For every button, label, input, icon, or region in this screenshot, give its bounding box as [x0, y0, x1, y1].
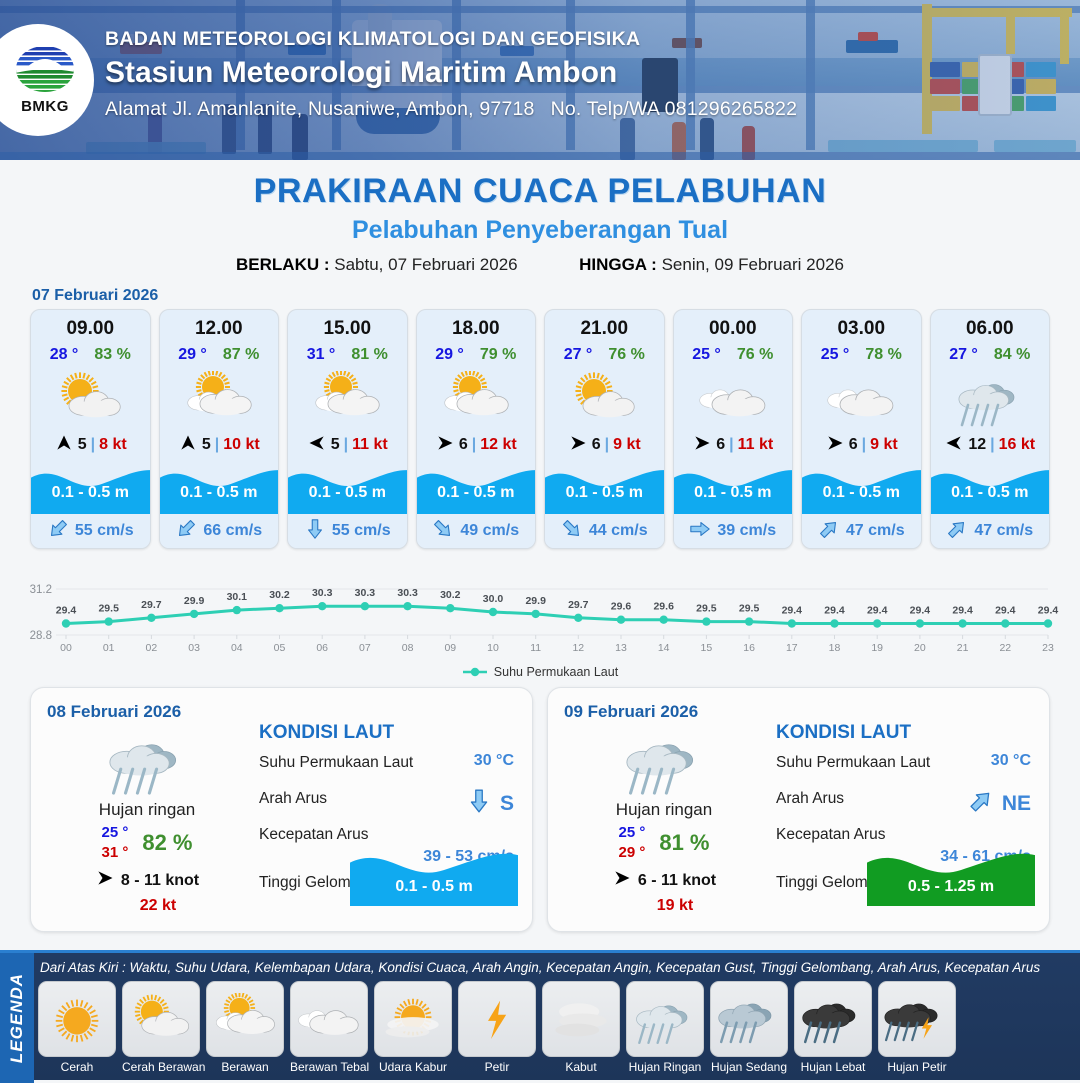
- current-direction-icon: [175, 518, 197, 545]
- svg-text:30.3: 30.3: [312, 587, 333, 599]
- legend-item: Hujan Ringan: [626, 981, 704, 1074]
- legend-side-text: LEGENDA: [7, 973, 27, 1063]
- svg-text:21: 21: [957, 642, 969, 654]
- current-speed: 49 cm/s: [460, 522, 519, 540]
- card-current: 55 cm/s: [31, 514, 150, 548]
- agency-name: BADAN METEOROLOGI KLIMATOLOGI DAN GEOFIS…: [105, 28, 797, 51]
- page-header: BMKG BADAN METEOROLOGI KLIMATOLOGI DAN G…: [0, 0, 1080, 160]
- card-wave: 0.1 - 0.5 m: [31, 462, 150, 514]
- current-direction-icon: [466, 788, 492, 819]
- svg-text:13: 13: [615, 642, 627, 654]
- card-current: 66 cm/s: [160, 514, 279, 548]
- card-wave: 0.1 - 0.5 m: [545, 462, 664, 514]
- legend-item: Berawan: [206, 981, 284, 1074]
- weather-berawan-sun-icon: [160, 368, 279, 430]
- card-wave: 0.1 - 0.5 m: [674, 462, 793, 514]
- svg-text:20: 20: [914, 642, 926, 654]
- daily-left-column: Hujan ringan 25 ° 31 ° 82 % 8 - 11 knot …: [47, 726, 247, 915]
- card-temperature: 28 °: [50, 346, 79, 364]
- svg-text:16: 16: [743, 642, 755, 654]
- wave-height: 0.1 - 0.5 m: [417, 484, 536, 502]
- card-wave: 0.1 - 0.5 m: [931, 462, 1050, 514]
- daily-forecast-row: 08 Februari 2026 Hujan ringan 25 ° 31 ° …: [0, 679, 1080, 932]
- weather-kabut-icon: [542, 981, 620, 1057]
- svg-text:09: 09: [444, 642, 456, 654]
- svg-text:08: 08: [402, 642, 414, 654]
- weather-hujan-lebat-icon: [794, 981, 872, 1057]
- svg-text:04: 04: [231, 642, 243, 654]
- validity-line: BERLAKU : Sabtu, 07 Februari 2026 HINGGA…: [0, 255, 1080, 275]
- weather-berawan-sun-icon: [206, 981, 284, 1057]
- weather-cerah-berawan-icon: [31, 368, 150, 430]
- card-temp-humidity: 27 ° 76 %: [545, 346, 664, 364]
- svg-text:30.1: 30.1: [227, 591, 248, 603]
- current-speed: 47 cm/s: [846, 522, 905, 540]
- wind-gust: 12 kt: [480, 436, 516, 454]
- wind-gust: 9 kt: [870, 436, 898, 454]
- legend-item: Hujan Petir: [878, 981, 956, 1074]
- wave-value: 0.5 - 1.25 m: [867, 878, 1035, 896]
- current-direction-row: Arah Arus NE: [776, 790, 1035, 816]
- daily-wind-range: 8 - 11 knot: [121, 872, 199, 890]
- svg-text:29.9: 29.9: [525, 595, 546, 607]
- hourly-date-label: 07 Februari 2026: [32, 287, 1080, 305]
- legend-item-label: Berawan Tebal: [290, 1060, 368, 1074]
- current-speed: 55 cm/s: [332, 522, 391, 540]
- svg-text:01: 01: [103, 642, 115, 654]
- daily-condition: Hujan ringan: [47, 800, 247, 820]
- daily-temp-max: 31 °: [101, 844, 128, 861]
- daily-date: 09 Februari 2026: [564, 702, 1033, 722]
- weather-hujan-ringan-icon: [47, 726, 247, 798]
- svg-text:00: 00: [60, 642, 72, 654]
- current-speed: 55 cm/s: [75, 522, 134, 540]
- svg-text:29.5: 29.5: [98, 603, 119, 615]
- svg-text:29.7: 29.7: [568, 599, 589, 611]
- hourly-forecast-row: 09.00 28 ° 83 % 5 | 8 kt 0.1 - 0.5 m 55 …: [0, 309, 1080, 549]
- current-speed: 44 cm/s: [589, 522, 648, 540]
- card-humidity: 79 %: [480, 346, 516, 364]
- station-name: Stasiun Meteorologi Maritim Ambon: [105, 56, 797, 90]
- sea-conditions-title: KONDISI LAUT: [776, 722, 1035, 744]
- bmkg-logo-mark: [15, 45, 75, 97]
- wind-separator: |: [729, 436, 733, 454]
- wind-direction-icon: [178, 433, 198, 458]
- daily-left-column: Hujan ringan 25 ° 29 ° 81 % 6 - 11 knot …: [564, 726, 764, 915]
- current-direction-icon: [968, 788, 994, 819]
- card-humidity: 76 %: [608, 346, 644, 364]
- current-direction-value: NE: [968, 788, 1031, 819]
- svg-text:18: 18: [829, 642, 841, 654]
- sea-conditions-title: KONDISI LAUT: [259, 722, 518, 744]
- legend-item: Hujan Sedang: [710, 981, 788, 1074]
- legend-item: Cerah Berawan: [122, 981, 200, 1074]
- hourly-card: 12.00 29 ° 87 % 5 | 10 kt 0.1 - 0.5 m: [159, 309, 280, 549]
- card-temp-humidity: 31 ° 81 %: [288, 346, 407, 364]
- wind-speed: 6: [849, 436, 858, 454]
- wind-direction-icon: [612, 868, 632, 893]
- wind-direction-icon: [692, 433, 712, 458]
- card-time: 09.00: [31, 310, 150, 340]
- weather-cerah-berawan-icon: [122, 981, 200, 1057]
- wind-speed: 5: [331, 436, 340, 454]
- page-title: PRAKIRAAN CUACA PELABUHAN: [0, 172, 1080, 211]
- card-wave: 0.1 - 0.5 m: [802, 462, 921, 514]
- card-humidity: 83 %: [94, 346, 130, 364]
- wave-height: 0.1 - 0.5 m: [674, 484, 793, 502]
- weather-hujan-ringan-icon: [564, 726, 764, 798]
- weather-berawan-icon: [802, 368, 921, 430]
- card-humidity: 81 %: [351, 346, 387, 364]
- legend-item: Cerah: [38, 981, 116, 1074]
- sst-chart: 31.228.829.40029.50129.70229.90330.10430…: [14, 563, 1066, 663]
- wind-separator: |: [91, 436, 95, 454]
- card-temperature: 27 °: [949, 346, 978, 364]
- weather-berawan-icon: [290, 981, 368, 1057]
- svg-text:30.3: 30.3: [355, 587, 376, 599]
- current-direction-icon: [818, 518, 840, 545]
- daily-temp-min: 25 °: [618, 824, 645, 841]
- legend-side-title: LEGENDA: [0, 953, 34, 1083]
- hourly-card: 18.00 29 ° 79 % 6 | 12 kt 0.1 - 0.5 m: [416, 309, 537, 549]
- card-time: 00.00: [674, 310, 793, 340]
- svg-text:31.2: 31.2: [30, 584, 52, 596]
- legend-item-label: Hujan Lebat: [794, 1060, 872, 1074]
- svg-text:17: 17: [786, 642, 798, 654]
- legend-item-label: Cerah Berawan: [122, 1060, 200, 1074]
- current-speed: 66 cm/s: [203, 522, 262, 540]
- svg-text:29.4: 29.4: [824, 605, 845, 617]
- wind-direction-icon: [54, 433, 74, 458]
- wave-height: 0.1 - 0.5 m: [288, 484, 407, 502]
- phone-text: No. Telp/WA 081296265822: [551, 98, 798, 120]
- card-temperature: 29 °: [435, 346, 464, 364]
- card-humidity: 87 %: [223, 346, 259, 364]
- current-direction-icon: [432, 518, 454, 545]
- weather-cerah-berawan-icon: [545, 368, 664, 430]
- current-direction-icon: [47, 518, 69, 545]
- svg-text:29.4: 29.4: [910, 605, 931, 617]
- card-temp-humidity: 27 ° 84 %: [931, 346, 1050, 364]
- wind-gust: 11 kt: [352, 436, 388, 454]
- card-wind: 5 | 10 kt: [160, 430, 279, 460]
- current-direction-row: Arah Arus S: [259, 790, 518, 816]
- current-direction-icon: [561, 518, 583, 545]
- card-current: 47 cm/s: [931, 514, 1050, 548]
- wind-direction-icon: [568, 433, 588, 458]
- current-direction-label: Arah Arus: [776, 790, 844, 807]
- card-time: 18.00: [417, 310, 536, 340]
- daily-temp-min: 25 °: [101, 824, 128, 841]
- daily-condition: Hujan ringan: [564, 800, 764, 820]
- wind-separator: |: [344, 436, 348, 454]
- weather-berawan-icon: [674, 368, 793, 430]
- hourly-card: 21.00 27 ° 76 % 6 | 9 kt 0.1 - 0.5 m 44 …: [544, 309, 665, 549]
- svg-text:29.4: 29.4: [56, 605, 77, 617]
- weather-hujan-ringan-icon: [626, 981, 704, 1057]
- svg-text:02: 02: [146, 642, 158, 654]
- card-wind: 6 | 9 kt: [802, 430, 921, 460]
- svg-text:30.2: 30.2: [440, 589, 461, 601]
- title-block: PRAKIRAAN CUACA PELABUHAN Pelabuhan Peny…: [0, 160, 1080, 275]
- svg-text:06: 06: [316, 642, 328, 654]
- current-speed: 39 cm/s: [717, 522, 776, 540]
- svg-text:12: 12: [572, 642, 584, 654]
- daily-gust: 22 kt: [47, 897, 247, 915]
- berlaku-value: Sabtu, 07 Februari 2026: [334, 255, 517, 274]
- address-text: Alamat Jl. Amanlanite, Nusaniwe, Ambon, …: [105, 98, 535, 120]
- legend-item-list: Cerah Cerah Berawan Berawan Berawan T: [38, 981, 1076, 1074]
- legend-item-label: Berawan: [206, 1060, 284, 1074]
- svg-text:29.4: 29.4: [952, 605, 973, 617]
- card-temp-humidity: 25 ° 78 %: [802, 346, 921, 364]
- card-temperature: 27 °: [564, 346, 593, 364]
- card-temperature: 29 °: [178, 346, 207, 364]
- card-time: 21.00: [545, 310, 664, 340]
- weather-hujan-petir-icon: [878, 981, 956, 1057]
- svg-text:29.5: 29.5: [739, 603, 760, 615]
- card-humidity: 76 %: [737, 346, 773, 364]
- wind-direction-icon: [307, 433, 327, 458]
- card-humidity: 84 %: [994, 346, 1030, 364]
- daily-humidity: 82 %: [142, 830, 192, 856]
- wave-value: 0.1 - 0.5 m: [350, 878, 518, 896]
- wind-separator: |: [605, 436, 609, 454]
- svg-text:28.8: 28.8: [30, 630, 52, 642]
- card-wind: 6 | 9 kt: [545, 430, 664, 460]
- wind-separator: |: [215, 436, 219, 454]
- hourly-card: 03.00 25 ° 78 % 6 | 9 kt 0.1 - 0.5 m: [801, 309, 922, 549]
- daily-wind: 8 - 11 knot: [47, 868, 247, 893]
- page-subtitle: Pelabuhan Penyeberangan Tual: [0, 216, 1080, 245]
- hingga-value: Senin, 09 Februari 2026: [662, 255, 844, 274]
- daily-date: 08 Februari 2026: [47, 702, 516, 722]
- current-speed: 47 cm/s: [974, 522, 1033, 540]
- card-temperature: 25 °: [692, 346, 721, 364]
- hourly-card: 15.00 31 ° 81 % 5 | 11 kt 0.1 - 0.5 m: [287, 309, 408, 549]
- weather-berawan-sun-icon: [288, 368, 407, 430]
- card-temperature: 31 °: [307, 346, 336, 364]
- current-speed-label: Kecepatan Arus: [259, 826, 368, 843]
- svg-text:03: 03: [188, 642, 200, 654]
- svg-text:29.5: 29.5: [696, 603, 717, 615]
- berlaku-label: BERLAKU :: [236, 255, 330, 274]
- card-wind: 6 | 12 kt: [417, 430, 536, 460]
- legend-bar: LEGENDA Dari Atas Kiri : Waktu, Suhu Uda…: [0, 950, 1080, 1080]
- legend-item: Hujan Lebat: [794, 981, 872, 1074]
- card-current: 44 cm/s: [545, 514, 664, 548]
- svg-text:11: 11: [530, 642, 541, 654]
- svg-text:05: 05: [274, 642, 286, 654]
- svg-text:29.9: 29.9: [184, 595, 205, 607]
- svg-text:29.7: 29.7: [141, 599, 162, 611]
- chart-legend-marker: [462, 666, 488, 678]
- chart-legend: Suhu Permukaan Laut: [0, 665, 1080, 679]
- svg-text:29.4: 29.4: [995, 605, 1016, 617]
- wind-direction-icon: [435, 433, 455, 458]
- daily-gust: 19 kt: [564, 897, 764, 915]
- wind-speed: 6: [592, 436, 601, 454]
- wind-speed: 6: [459, 436, 468, 454]
- card-temp-humidity: 29 ° 79 %: [417, 346, 536, 364]
- card-temperature: 25 °: [821, 346, 850, 364]
- legend-item-label: Cerah: [38, 1060, 116, 1074]
- wave-height: 0.1 - 0.5 m: [160, 484, 279, 502]
- card-current: 47 cm/s: [802, 514, 921, 548]
- wave-height: 0.1 - 0.5 m: [545, 484, 664, 502]
- weather-berawan-sun-icon: [417, 368, 536, 430]
- card-current: 39 cm/s: [674, 514, 793, 548]
- svg-text:29.4: 29.4: [782, 605, 803, 617]
- legend-item: Petir: [458, 981, 536, 1074]
- wind-separator: |: [990, 436, 994, 454]
- legend-item-label: Hujan Petir: [878, 1060, 956, 1074]
- card-wave: 0.1 - 0.5 m: [288, 462, 407, 514]
- wave-graphic: 0.1 - 0.5 m: [350, 844, 518, 906]
- svg-text:23: 23: [1042, 642, 1054, 654]
- daily-temp-max: 29 °: [618, 844, 645, 861]
- card-humidity: 78 %: [865, 346, 901, 364]
- current-direction-icon: [304, 518, 326, 545]
- hingga-label: HINGGA :: [579, 255, 657, 274]
- card-current: 49 cm/s: [417, 514, 536, 548]
- current-direction-icon: [946, 518, 968, 545]
- hourly-card: 00.00 25 ° 76 % 6 | 11 kt 0.1 - 0.5 m: [673, 309, 794, 549]
- current-speed-label: Kecepatan Arus: [776, 826, 885, 843]
- svg-text:30.2: 30.2: [269, 589, 290, 601]
- card-time: 06.00: [931, 310, 1050, 340]
- wave-graphic: 0.5 - 1.25 m: [867, 844, 1035, 906]
- svg-text:07: 07: [359, 642, 371, 654]
- card-wind: 5 | 8 kt: [31, 430, 150, 460]
- card-temp-humidity: 29 ° 87 %: [160, 346, 279, 364]
- legend-item-label: Kabut: [542, 1060, 620, 1074]
- daily-forecast-card: 09 Februari 2026 Hujan ringan 25 ° 29 ° …: [547, 687, 1050, 932]
- daily-temps: 25 ° 31 ° 82 %: [47, 824, 247, 861]
- sea-conditions: KONDISI LAUT Suhu Permukaan Laut 30 °C A…: [259, 722, 518, 900]
- card-wave: 0.1 - 0.5 m: [160, 462, 279, 514]
- legend-item: Kabut: [542, 981, 620, 1074]
- sst-row: Suhu Permukaan Laut 30 °C: [776, 754, 1035, 780]
- wave-height: 0.1 - 0.5 m: [31, 484, 150, 502]
- svg-text:15: 15: [701, 642, 713, 654]
- card-temp-humidity: 25 ° 76 %: [674, 346, 793, 364]
- svg-text:30.0: 30.0: [483, 593, 504, 605]
- hourly-card: 06.00 27 ° 84 % 12 | 16 kt 0.1 - 0.5 m: [930, 309, 1051, 549]
- card-time: 15.00: [288, 310, 407, 340]
- card-time: 03.00: [802, 310, 921, 340]
- svg-text:29.4: 29.4: [867, 605, 888, 617]
- weather-cerah-icon: [38, 981, 116, 1057]
- wind-direction-icon: [825, 433, 845, 458]
- wind-separator: |: [862, 436, 866, 454]
- svg-text:29.6: 29.6: [653, 601, 674, 613]
- daily-wind-range: 6 - 11 knot: [638, 872, 716, 890]
- legend-item-label: Udara Kabur: [374, 1060, 452, 1074]
- legend-item-label: Hujan Ringan: [626, 1060, 704, 1074]
- card-wind: 12 | 16 kt: [931, 430, 1050, 460]
- sst-row: Suhu Permukaan Laut 30 °C: [259, 754, 518, 780]
- current-direction-icon: [689, 518, 711, 545]
- weather-hujan-sedang-icon: [710, 981, 788, 1057]
- wind-gust: 9 kt: [613, 436, 641, 454]
- legend-item-label: Petir: [458, 1060, 536, 1074]
- legend-item: Udara Kabur: [374, 981, 452, 1074]
- wind-speed: 6: [716, 436, 725, 454]
- sst-label: Suhu Permukaan Laut: [776, 754, 930, 771]
- current-direction-value: S: [466, 788, 514, 819]
- hourly-card: 09.00 28 ° 83 % 5 | 8 kt 0.1 - 0.5 m 55 …: [30, 309, 151, 549]
- wind-speed: 5: [78, 436, 87, 454]
- chart-legend-label: Suhu Permukaan Laut: [494, 665, 618, 679]
- card-wind: 6 | 11 kt: [674, 430, 793, 460]
- svg-text:14: 14: [658, 642, 670, 654]
- wind-speed: 5: [202, 436, 211, 454]
- current-direction-label: Arah Arus: [259, 790, 327, 807]
- daily-humidity: 81 %: [659, 830, 709, 856]
- sst-label: Suhu Permukaan Laut: [259, 754, 413, 771]
- daily-wind: 6 - 11 knot: [564, 868, 764, 893]
- card-current: 55 cm/s: [288, 514, 407, 548]
- wind-gust: 16 kt: [999, 436, 1035, 454]
- svg-text:29.4: 29.4: [1038, 605, 1059, 617]
- wind-direction-icon: [944, 433, 964, 458]
- weather-udara-kabur-icon: [374, 981, 452, 1057]
- legend-item: Berawan Tebal: [290, 981, 368, 1074]
- svg-text:10: 10: [487, 642, 499, 654]
- wind-gust: 11 kt: [738, 436, 774, 454]
- card-wave: 0.1 - 0.5 m: [417, 462, 536, 514]
- legend-note: Dari Atas Kiri : Waktu, Suhu Udara, Kele…: [40, 960, 1074, 975]
- svg-text:19: 19: [871, 642, 883, 654]
- daily-temps: 25 ° 29 ° 81 %: [564, 824, 764, 861]
- weather-petir-icon: [458, 981, 536, 1057]
- wave-height: 0.1 - 0.5 m: [931, 484, 1050, 502]
- sst-value: 30 °C: [991, 752, 1031, 770]
- svg-text:22: 22: [999, 642, 1011, 654]
- card-temp-humidity: 28 ° 83 %: [31, 346, 150, 364]
- bmkg-logo-text: BMKG: [21, 98, 69, 115]
- card-wind: 5 | 11 kt: [288, 430, 407, 460]
- wave-height: 0.1 - 0.5 m: [802, 484, 921, 502]
- wind-direction-icon: [95, 868, 115, 893]
- wind-separator: |: [472, 436, 476, 454]
- legend-item-label: Hujan Sedang: [710, 1060, 788, 1074]
- daily-forecast-card: 08 Februari 2026 Hujan ringan 25 ° 31 ° …: [30, 687, 533, 932]
- wind-gust: 10 kt: [223, 436, 259, 454]
- svg-text:29.6: 29.6: [611, 601, 632, 613]
- sst-value: 30 °C: [474, 752, 514, 770]
- card-time: 12.00: [160, 310, 279, 340]
- wind-gust: 8 kt: [99, 436, 127, 454]
- sea-conditions: KONDISI LAUT Suhu Permukaan Laut 30 °C A…: [776, 722, 1035, 900]
- weather-hujan-ringan-icon: [931, 368, 1050, 430]
- wind-speed: 12: [968, 436, 986, 454]
- svg-text:30.3: 30.3: [397, 587, 418, 599]
- contact-line: Alamat Jl. Amanlanite, Nusaniwe, Ambon, …: [105, 98, 797, 121]
